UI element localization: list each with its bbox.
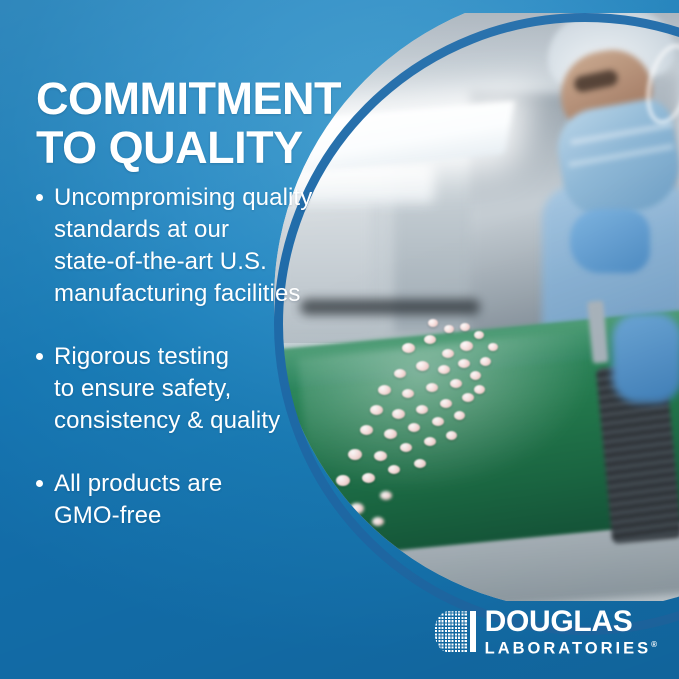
tablet xyxy=(428,319,438,327)
bullet-1-line-4: manufacturing facilities xyxy=(54,278,312,310)
list-item-text: Uncompromising quality standards at our … xyxy=(54,182,312,310)
tablet xyxy=(378,385,391,395)
benefits-list: Uncompromising quality standards at our … xyxy=(34,182,360,532)
tablet xyxy=(460,323,470,331)
bullet-2-line-3: consistency & quality xyxy=(54,405,280,437)
tablet xyxy=(384,429,397,439)
bullet-3-line-2: GMO-free xyxy=(54,500,222,532)
douglas-grid-mark-icon xyxy=(435,611,476,652)
page-title: COMMITMENT TO QUALITY xyxy=(36,74,366,172)
tablet xyxy=(474,385,485,394)
tablet xyxy=(474,331,484,339)
tablet xyxy=(392,409,405,419)
tablet xyxy=(394,569,406,578)
tablet xyxy=(360,585,374,596)
tablet xyxy=(374,451,387,461)
tablet xyxy=(400,443,412,452)
tablet xyxy=(444,325,454,333)
tablet xyxy=(394,369,406,378)
tablet xyxy=(388,465,400,474)
tablet xyxy=(380,491,392,500)
tablet xyxy=(460,341,473,351)
registered-trademark-icon: ® xyxy=(651,640,657,649)
title-line-1: COMMITMENT xyxy=(36,74,366,123)
tablet xyxy=(372,517,384,526)
tablet xyxy=(432,417,444,426)
bullet-dot-icon xyxy=(36,194,43,201)
bullet-1-line-3: state-of-the-art U.S. xyxy=(54,246,312,278)
logo-brand-name: DOUGLAS xyxy=(485,607,657,636)
title-line-2: TO QUALITY xyxy=(36,123,366,172)
list-item-text: Rigorous testing to ensure safety, consi… xyxy=(54,341,280,437)
tablet xyxy=(414,459,426,468)
tablet xyxy=(458,359,470,368)
tablet xyxy=(470,371,481,380)
tablet xyxy=(442,349,454,358)
tablet xyxy=(402,343,415,353)
logo-wordmark: DOUGLAS LABORATORIES® xyxy=(485,607,657,658)
tablet xyxy=(462,393,474,402)
tablet xyxy=(360,425,373,435)
tablet xyxy=(362,473,375,483)
tablet xyxy=(450,379,462,388)
list-item: Rigorous testing to ensure safety, consi… xyxy=(34,341,360,437)
bullet-dot-icon xyxy=(36,480,43,487)
douglas-laboratories-logo: DOUGLAS LABORATORIES® xyxy=(435,607,657,658)
tablet xyxy=(438,365,450,374)
tablet xyxy=(416,405,428,414)
bullet-3-line-1: All products are xyxy=(54,468,222,500)
tablet xyxy=(424,335,436,344)
bullet-1-line-1: Uncompromising quality xyxy=(54,182,312,214)
tablet xyxy=(408,423,420,432)
tablet xyxy=(446,431,457,440)
list-item-text: All products are GMO-free xyxy=(54,468,222,532)
list-item: Uncompromising quality standards at our … xyxy=(34,182,360,310)
bullet-dot-icon xyxy=(36,353,43,360)
tablet xyxy=(370,405,383,415)
tablet xyxy=(402,389,414,398)
logo-subtitle: LABORATORIES® xyxy=(485,636,657,658)
tablet xyxy=(488,343,498,351)
tablet xyxy=(370,553,383,563)
tablet xyxy=(424,437,436,446)
tablet xyxy=(454,411,465,420)
bullet-1-line-2: standards at our xyxy=(54,214,312,246)
tablet xyxy=(440,399,452,408)
tablet xyxy=(334,561,349,573)
tablet xyxy=(480,357,491,366)
promo-card: COMMITMENT TO QUALITY Uncompromising qua… xyxy=(0,0,679,679)
bullet-2-line-2: to ensure safety, xyxy=(54,373,280,405)
tablet xyxy=(416,361,429,371)
tablet xyxy=(318,531,332,542)
logo-subtitle-text: LABORATORIES xyxy=(485,639,651,657)
list-item: All products are GMO-free xyxy=(34,468,360,532)
bullet-2-line-1: Rigorous testing xyxy=(54,341,280,373)
tablet xyxy=(426,383,438,392)
